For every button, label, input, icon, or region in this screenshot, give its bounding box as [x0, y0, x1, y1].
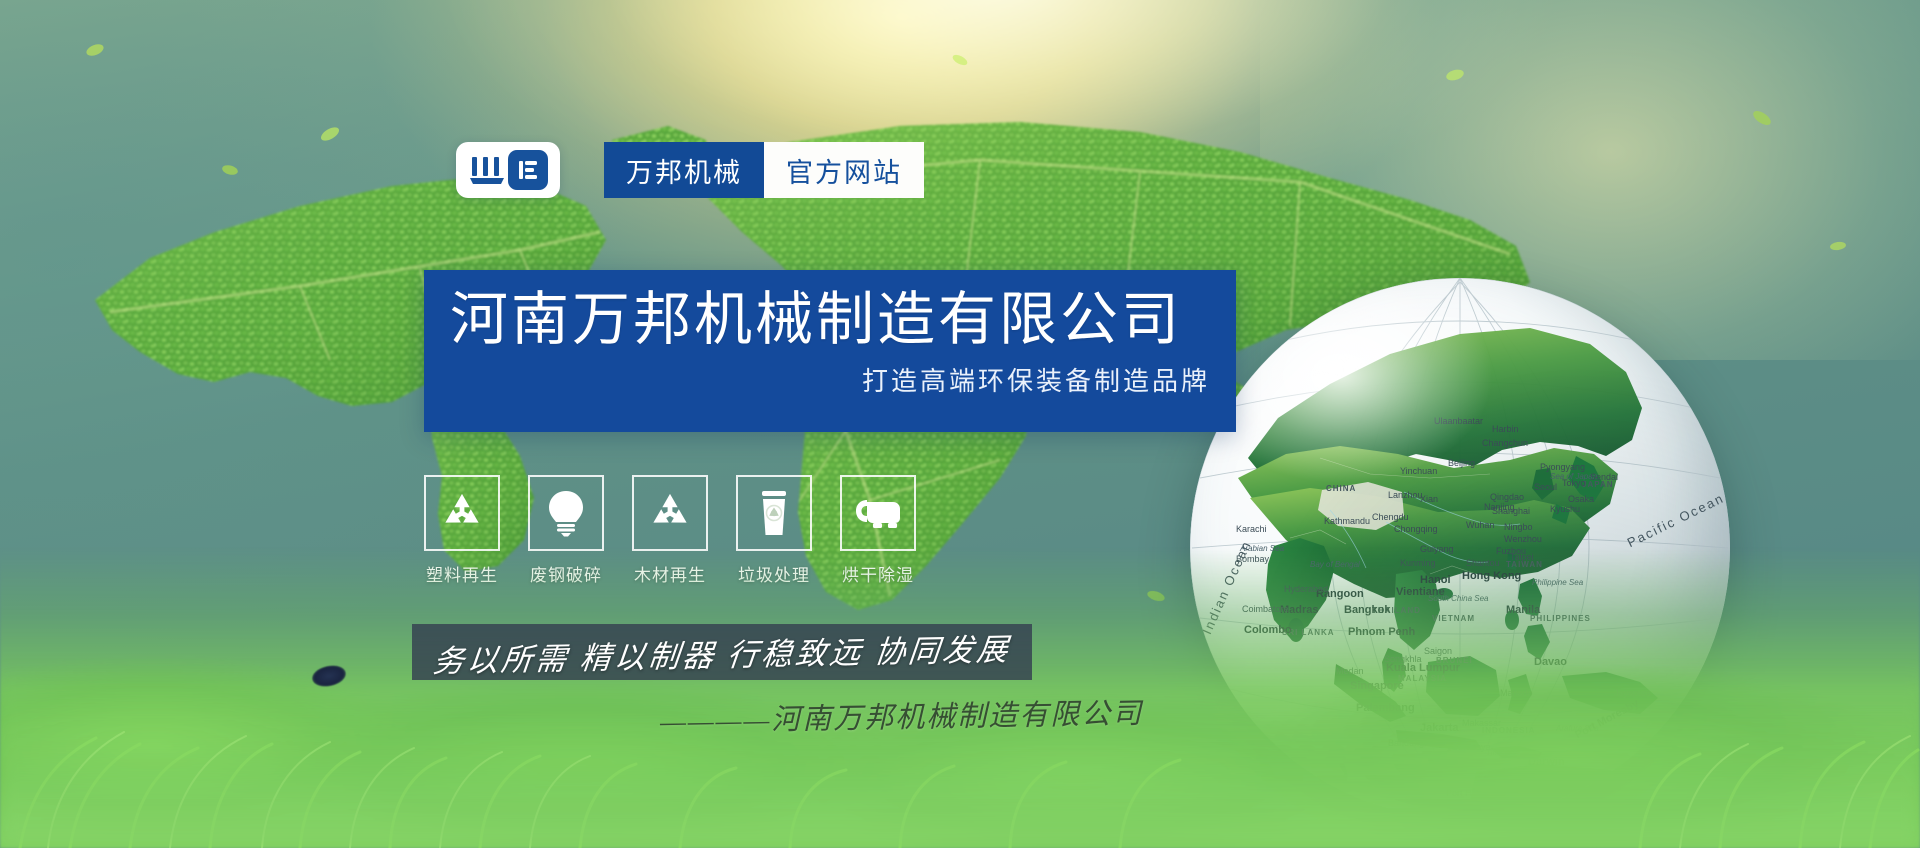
- company-name: 河南万邦机械制造有限公司: [450, 288, 1210, 353]
- recycle-icon: [439, 490, 485, 536]
- banner-stage: Pacific Ocean Indian Ocean South China S…: [0, 0, 1920, 848]
- site-header: 万邦机械 官方网站: [456, 142, 924, 198]
- feature-icon-box: [424, 475, 500, 551]
- slogan-attribution: ————河南万邦机械制造有限公司: [660, 690, 1144, 740]
- lightbulb-icon: [545, 489, 587, 537]
- blower-dryer-icon: [853, 496, 903, 530]
- trash-bin-icon: [756, 488, 792, 538]
- logo-b-icon: [508, 150, 548, 190]
- feature-icon-box: [528, 475, 604, 551]
- logo-w-icon: [468, 153, 506, 187]
- hero-banner: 河南万邦机械制造有限公司 打造高端环保装备制造品牌: [424, 270, 1236, 432]
- slogan-text: 务以所需 精以制器 行稳致远 协同发展: [431, 623, 1013, 680]
- feature-icon-box: [840, 475, 916, 551]
- feature-icon-box: [736, 475, 812, 551]
- tab-wanbang-machinery[interactable]: 万邦机械: [604, 142, 764, 198]
- tab-official-website[interactable]: 官方网站: [764, 142, 924, 198]
- header-tabs: 万邦机械 官方网站: [604, 142, 924, 198]
- slogan-bar: 务以所需 精以制器 行稳致远 协同发展: [412, 624, 1032, 680]
- company-tagline: 打造高端环保装备制造品牌: [450, 361, 1210, 398]
- recycle-icon: [647, 490, 693, 536]
- feature-icon-box: [632, 475, 708, 551]
- logo-badge[interactable]: [456, 142, 560, 198]
